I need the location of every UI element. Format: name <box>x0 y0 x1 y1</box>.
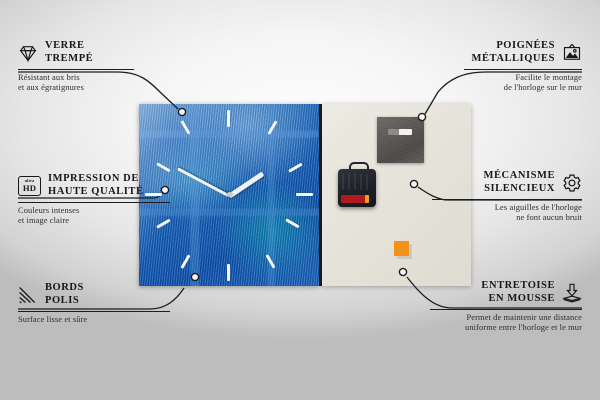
product-infographic: VERRETREMPÉ Résistant aux briset aux égr… <box>0 0 600 400</box>
clock-tick-4 <box>285 219 299 229</box>
feature-rule <box>430 309 582 310</box>
clock-tick-12 <box>227 110 230 127</box>
clock-tick-7 <box>180 254 190 268</box>
feature-verre-trempe: VERRETREMPÉ Résistant aux briset aux égr… <box>18 40 223 94</box>
hanger-slot <box>388 129 412 135</box>
feature-title: VERRETREMPÉ <box>45 40 93 65</box>
clock-hour-hand <box>228 171 265 198</box>
quartz-clock-mechanism <box>338 169 376 207</box>
metal-hanger-plate <box>377 117 424 163</box>
diagonal-lines-icon <box>18 285 38 305</box>
feature-impression-haute-qualite: ultra HD IMPRESSION DEHAUTE QUALITÉ Coul… <box>18 173 223 227</box>
clock-center-hub <box>227 192 232 197</box>
gear-icon <box>562 173 582 193</box>
foam-spacer-pad <box>394 241 409 256</box>
feature-mecanisme-silencieux: MÉCANISMESILENCIEUX Les aiguilles de l'h… <box>377 170 582 224</box>
clock-tick-5 <box>265 254 275 268</box>
aa-battery <box>341 195 369 203</box>
feature-poignees-metalliques: POIGNÉESMÉTALLIQUES Facilite le montaged… <box>377 40 582 94</box>
feature-subtitle: Permet de maintenir une distanceuniforme… <box>377 313 582 334</box>
clock-tick-10 <box>156 163 170 173</box>
clock-tick-1 <box>267 120 277 134</box>
feature-title: IMPRESSION DEHAUTE QUALITÉ <box>48 173 144 198</box>
feature-title: ENTRETOISEEN MOUSSE <box>481 280 555 305</box>
feature-rule <box>464 69 582 70</box>
feature-entretoise-en-mousse: ENTRETOISEEN MOUSSE Permet de maintenir … <box>377 280 582 334</box>
feature-rule <box>18 311 170 312</box>
hanging-frame-icon <box>562 43 582 63</box>
feature-rule <box>18 69 134 70</box>
feature-title: MÉCANISMESILENCIEUX <box>484 170 555 195</box>
feature-rule <box>432 199 582 200</box>
clock-tick-11 <box>180 120 190 134</box>
feature-title: POIGNÉESMÉTALLIQUES <box>472 40 555 65</box>
ultra-hd-icon: ultra HD <box>18 176 41 196</box>
feature-title: BORDSPOLIS <box>45 282 84 307</box>
clock-tick-3 <box>296 193 313 196</box>
feature-subtitle: Facilite le montagede l'horloge sur le m… <box>377 73 582 94</box>
mechanism-housing-detail <box>342 174 372 190</box>
clock-tick-9 <box>145 193 162 196</box>
feature-bords-polis: BORDSPOLIS Surface lisse et sûre <box>18 282 223 325</box>
diamond-icon <box>18 43 38 63</box>
feature-subtitle: Résistant aux briset aux égratignures <box>18 73 223 94</box>
feature-rule <box>18 202 170 203</box>
feature-subtitle: Les aiguilles de l'horlogene font aucun … <box>377 203 582 224</box>
hd-label: HD <box>23 184 36 193</box>
clock-tick-6 <box>227 264 230 281</box>
feature-subtitle: Couleurs intenseset image claire <box>18 206 223 227</box>
clock-tick-2 <box>288 163 302 173</box>
feature-subtitle: Surface lisse et sûre <box>18 315 223 325</box>
arrow-down-pad-icon <box>562 283 582 303</box>
